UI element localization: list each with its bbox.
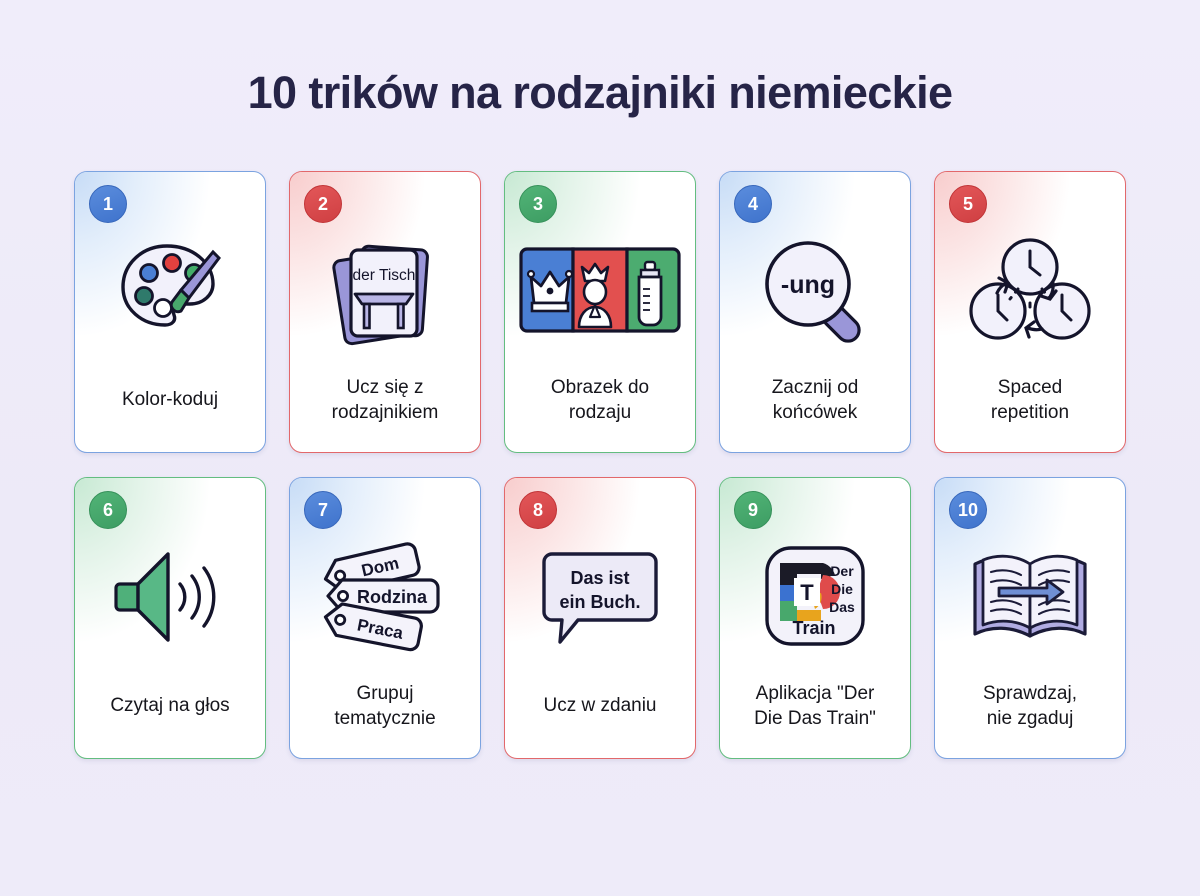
card-label: Sprawdzaj, nie zgaduj [943, 654, 1117, 758]
card-number-badge: 6 [89, 491, 127, 529]
tips-grid: 1 Kolor-koduj 2 [67, 115, 1133, 759]
card-number-badge: 7 [304, 491, 342, 529]
app-icon: T Der Die Das Train [720, 536, 910, 656]
three-clocks-cycle-icon [935, 230, 1125, 350]
app-letter: T [800, 580, 814, 605]
app-word-der: Der [830, 563, 854, 579]
gender-panels-icon [505, 230, 695, 350]
magnifier-icon: -ung [720, 230, 910, 350]
card-label: Obrazek do rodzaju [513, 348, 687, 452]
tip-card-10[interactable]: 10 [934, 477, 1126, 759]
card-number-badge: 8 [519, 491, 557, 529]
tip-card-5[interactable]: 5 [934, 171, 1126, 453]
tip-card-4[interactable]: 4 -ung Zacznij od końcówek [719, 171, 911, 453]
card-number-badge: 10 [949, 491, 987, 529]
open-book-arrow-icon [935, 536, 1125, 656]
tip-card-9[interactable]: 9 T [719, 477, 911, 759]
bubble-line-1: Das ist [570, 568, 629, 588]
card-label: Zacznij od końcówek [728, 348, 902, 452]
card-number-badge: 4 [734, 185, 772, 223]
card-number-badge: 5 [949, 185, 987, 223]
card-label: Czytaj na głos [83, 654, 257, 758]
card-label: Spaced repetition [943, 348, 1117, 452]
app-word-das: Das [829, 599, 855, 615]
tip-card-1[interactable]: 1 Kolor-koduj [74, 171, 266, 453]
flashcard-word: der Tisch [353, 267, 416, 284]
card-number-badge: 2 [304, 185, 342, 223]
tip-card-2[interactable]: 2 der Tisch Ucz się z rodzajnikiem [289, 171, 481, 453]
app-word-train: Train [792, 618, 835, 638]
card-number-badge: 1 [89, 185, 127, 223]
card-label: Grupuj tematycznie [298, 654, 472, 758]
card-label: Kolor-koduj [83, 348, 257, 452]
speaker-icon [75, 536, 265, 656]
card-label: Ucz się z rodzajnikiem [298, 348, 472, 452]
app-word-die: Die [831, 581, 853, 597]
tip-card-6[interactable]: 6 Czytaj na głos [74, 477, 266, 759]
page-title: 10 trików na rodzajniki niemieckie [0, 0, 1200, 115]
infographic-page: 10 trików na rodzajniki niemieckie 1 Kol… [0, 0, 1200, 896]
flashcards-icon: der Tisch [290, 230, 480, 350]
tip-card-7[interactable]: 7 Dom Rodzina P [289, 477, 481, 759]
magnifier-suffix-text: -ung [781, 271, 835, 299]
bubble-line-2: ein Buch. [559, 592, 640, 612]
tip-card-8[interactable]: 8 Das ist ein Buch. Ucz w zdaniu [504, 477, 696, 759]
card-number-badge: 9 [734, 491, 772, 529]
tip-card-3[interactable]: 3 [504, 171, 696, 453]
card-label: Aplikacja "Der Die Das Train" [728, 654, 902, 758]
tags-icon: Dom Rodzina Praca [290, 536, 480, 656]
paint-palette-icon [75, 230, 265, 350]
tag-label-rodzina: Rodzina [357, 587, 428, 607]
card-label: Ucz w zdaniu [513, 654, 687, 758]
card-number-badge: 3 [519, 185, 557, 223]
speech-bubble-icon: Das ist ein Buch. [505, 536, 695, 656]
